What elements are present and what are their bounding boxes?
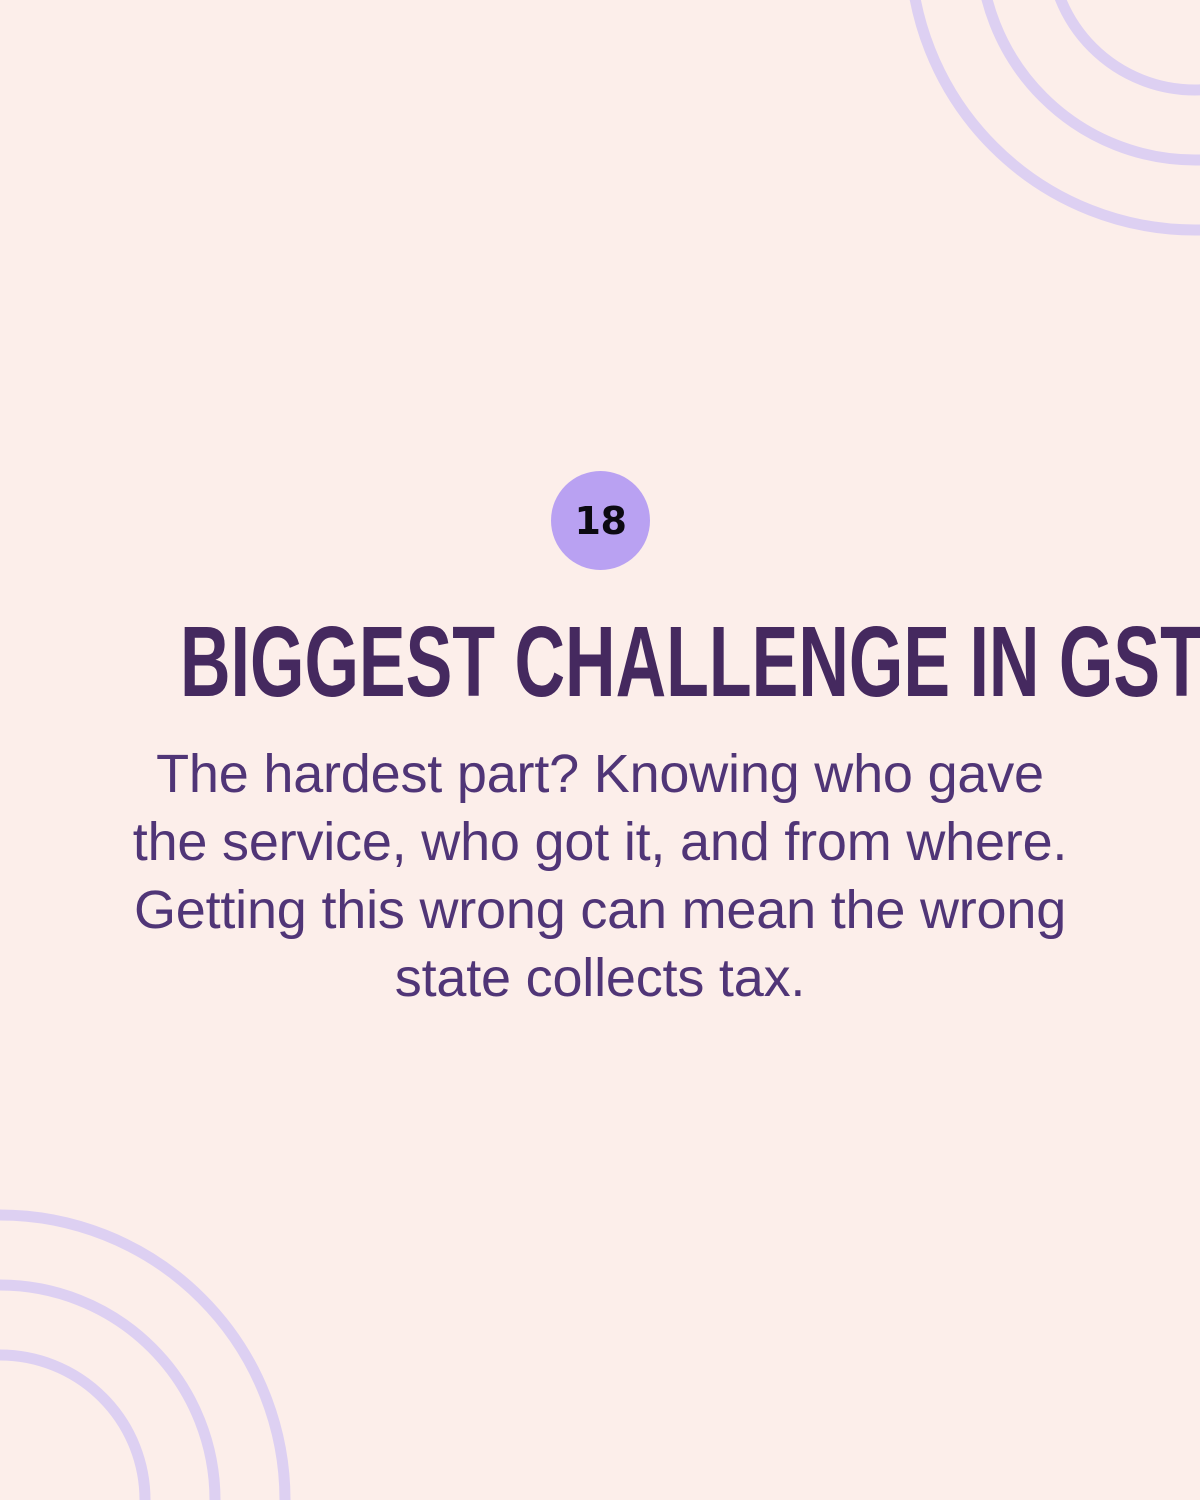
slide-title: BIGGEST CHALLENGE IN GST: [180, 612, 1020, 712]
slide-body: The hardest part? Knowing who gave the s…: [60, 740, 1140, 1012]
body-line: Getting this wrong can mean the wrong: [60, 876, 1140, 944]
body-line: the service, who got it, and from where.: [60, 808, 1140, 876]
body-line: state collects tax.: [60, 944, 1140, 1012]
slide-canvas: 18 BIGGEST CHALLENGE IN GST The hardest …: [0, 0, 1200, 1500]
slide-content: 18 BIGGEST CHALLENGE IN GST The hardest …: [0, 0, 1200, 1500]
step-number-label: 18: [575, 502, 627, 540]
body-line: The hardest part? Knowing who gave: [60, 740, 1140, 808]
step-number-badge: 18: [551, 471, 650, 570]
